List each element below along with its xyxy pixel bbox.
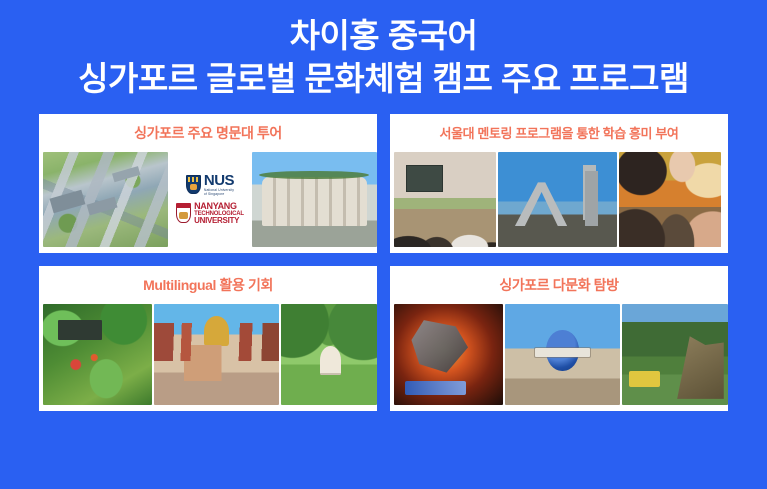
nus-crest-icon — [186, 175, 201, 194]
card-image-strip — [39, 304, 377, 411]
program-card-grid: 싱가포르 주요 명문대 투어 NUS National University o… — [39, 114, 728, 411]
card-header: 서울대 멘토링 프로그램을 통한 학습 흥미 부여 — [390, 114, 728, 152]
card-image-strip — [390, 304, 728, 411]
kampong-glam-sultan-mosque-photo — [154, 304, 279, 405]
card-header: Multilingual 활용 기회 — [39, 266, 377, 304]
program-card-multilingual: Multilingual 활용 기회 — [39, 266, 377, 411]
ntu-logo: NANYANG TECHNOLOGICAL UNIVERSITY — [176, 202, 244, 226]
jurong-bird-park-photo — [43, 304, 152, 405]
program-card-multicultural-tour: 싱가포르 다문화 탐방 — [390, 266, 728, 411]
universal-studios-globe-photo — [505, 304, 621, 405]
snu-main-gate-photo — [498, 152, 617, 247]
card-header: 싱가포르 다문화 탐방 — [390, 266, 728, 304]
program-card-snu-mentoring: 서울대 멘토링 프로그램을 통한 학습 흥미 부여 — [390, 114, 728, 253]
ntu-crest-icon — [176, 204, 191, 223]
nus-abbr: NUS — [204, 173, 234, 188]
ntu-line1: NANYANG — [194, 202, 244, 211]
nus-subtitle-line2: of Singapore — [204, 193, 234, 196]
botanic-gardens-bandstand-photo — [281, 304, 377, 405]
card-image-strip — [390, 152, 728, 253]
nus-logo: NUS National University of Singapore — [186, 173, 234, 197]
group-activity-photo — [619, 152, 721, 247]
program-card-university-tour: 싱가포르 주요 명문대 투어 NUS National University o… — [39, 114, 377, 253]
title-block: 차이홍 중국어 싱가포르 글로벌 문화체험 캠프 주요 프로그램 — [0, 0, 767, 98]
classroom-lecture-photo — [394, 152, 496, 247]
university-logos: NUS National University of Singapore NAN… — [170, 152, 249, 247]
ntu-hive-building-photo — [252, 152, 377, 247]
card-header: 싱가포르 주요 명문대 투어 — [39, 114, 377, 152]
poster: 차이홍 중국어 싱가포르 글로벌 문화체험 캠프 주요 프로그램 싱가포르 주요… — [0, 0, 767, 489]
card-image-strip: NUS National University of Singapore NAN… — [39, 152, 377, 253]
title-line-1: 차이홍 중국어 — [0, 18, 767, 55]
title-line-2: 싱가포르 글로벌 문화체험 캠프 주요 프로그램 — [0, 61, 767, 98]
nus-campus-aerial-photo — [43, 152, 168, 247]
transformers-ride-photo — [394, 304, 503, 405]
ntu-line3: UNIVERSITY — [194, 217, 244, 225]
jurassic-park-rapids-photo — [622, 304, 728, 405]
